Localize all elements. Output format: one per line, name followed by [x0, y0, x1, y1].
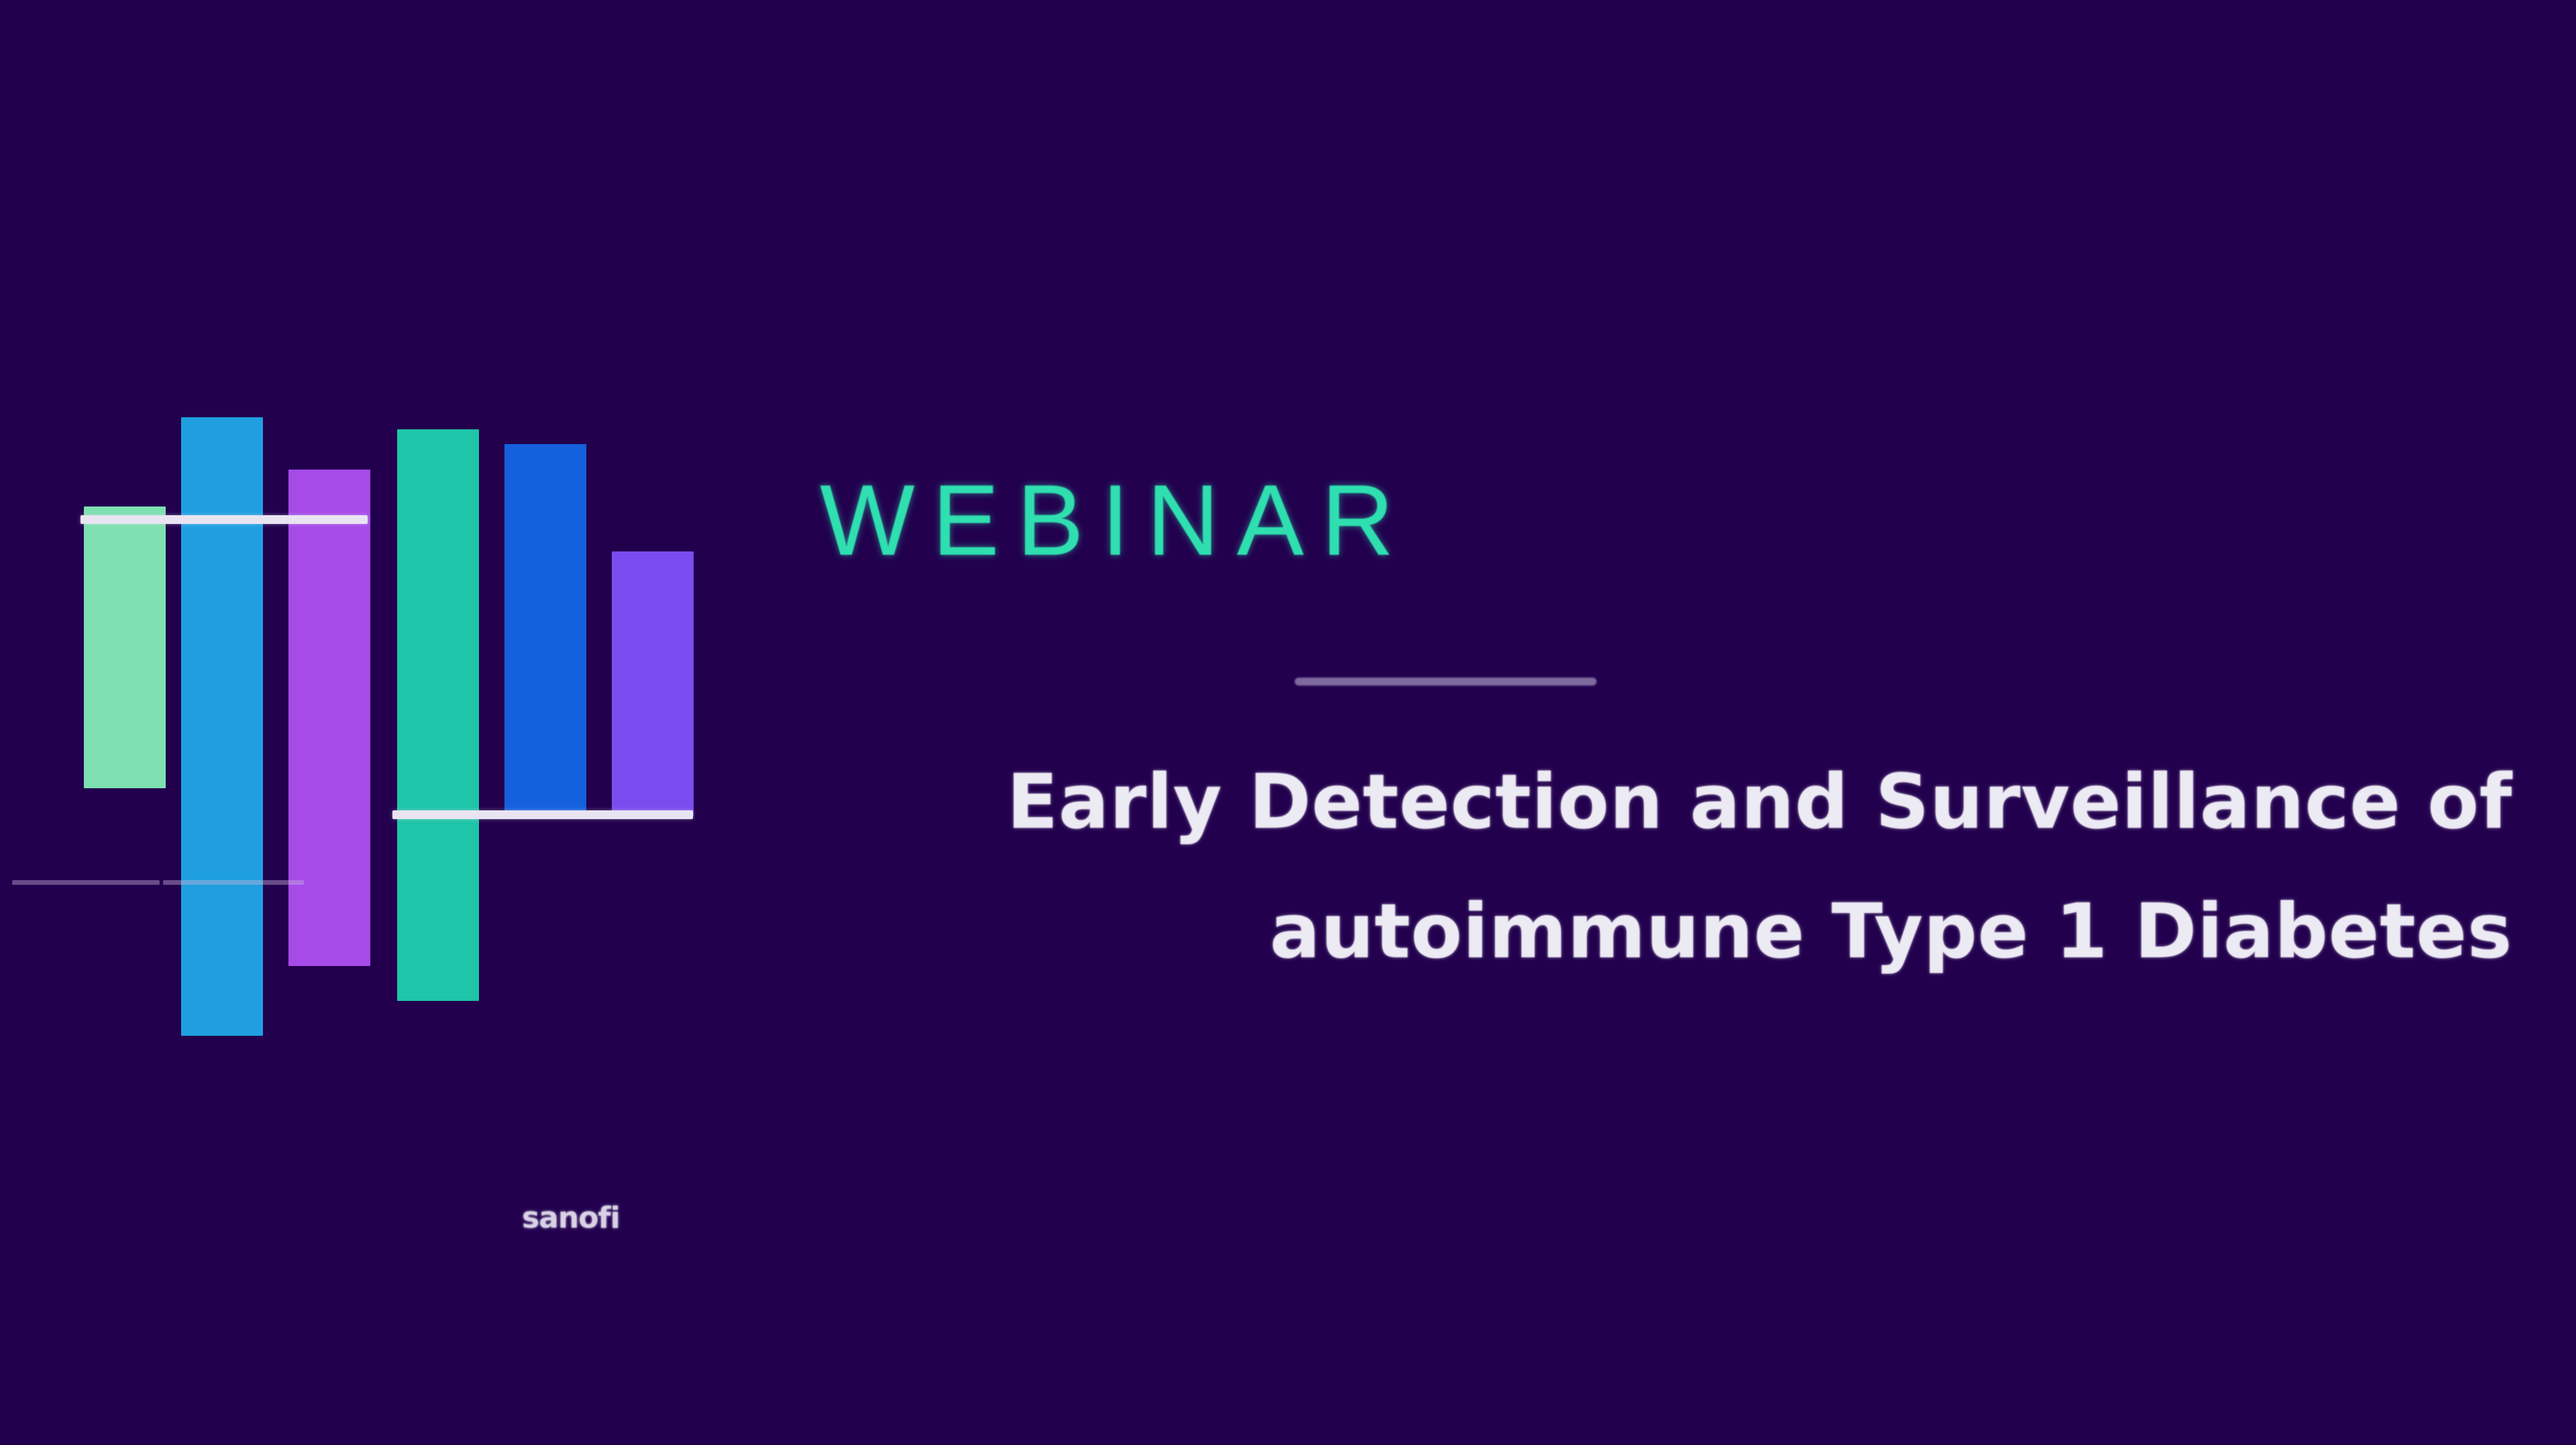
bar-mint [84, 506, 166, 788]
rule-upper [80, 515, 368, 524]
sanofi-logo: sanofi [0, 376, 738, 1087]
banner-text-block: WEBINAR Early Detection and Surveillance… [792, 470, 2536, 570]
faint-rule-right [163, 880, 304, 885]
bar-teal [397, 429, 479, 1001]
page-title: Early Detection and Surveillance of auto… [792, 738, 2512, 996]
rule-lower [392, 810, 693, 819]
headline-line-1: Early Detection and Surveillance of [792, 738, 2512, 867]
webinar-banner: sanofi WEBINAR Early Detection and Surve… [0, 0, 2576, 1445]
bar-orchid [288, 470, 370, 966]
bar-sky-blue [181, 417, 263, 1036]
bar-violet [612, 551, 694, 816]
divider-rule [1295, 678, 1597, 686]
faint-rule-left [12, 880, 160, 885]
headline-line-2: autoimmune Type 1 Diabetes [792, 867, 2512, 997]
eyebrow-label: WEBINAR [820, 470, 2536, 570]
sanofi-wordmark: sanofi [522, 1201, 620, 1235]
bar-royal-blue [504, 444, 586, 816]
